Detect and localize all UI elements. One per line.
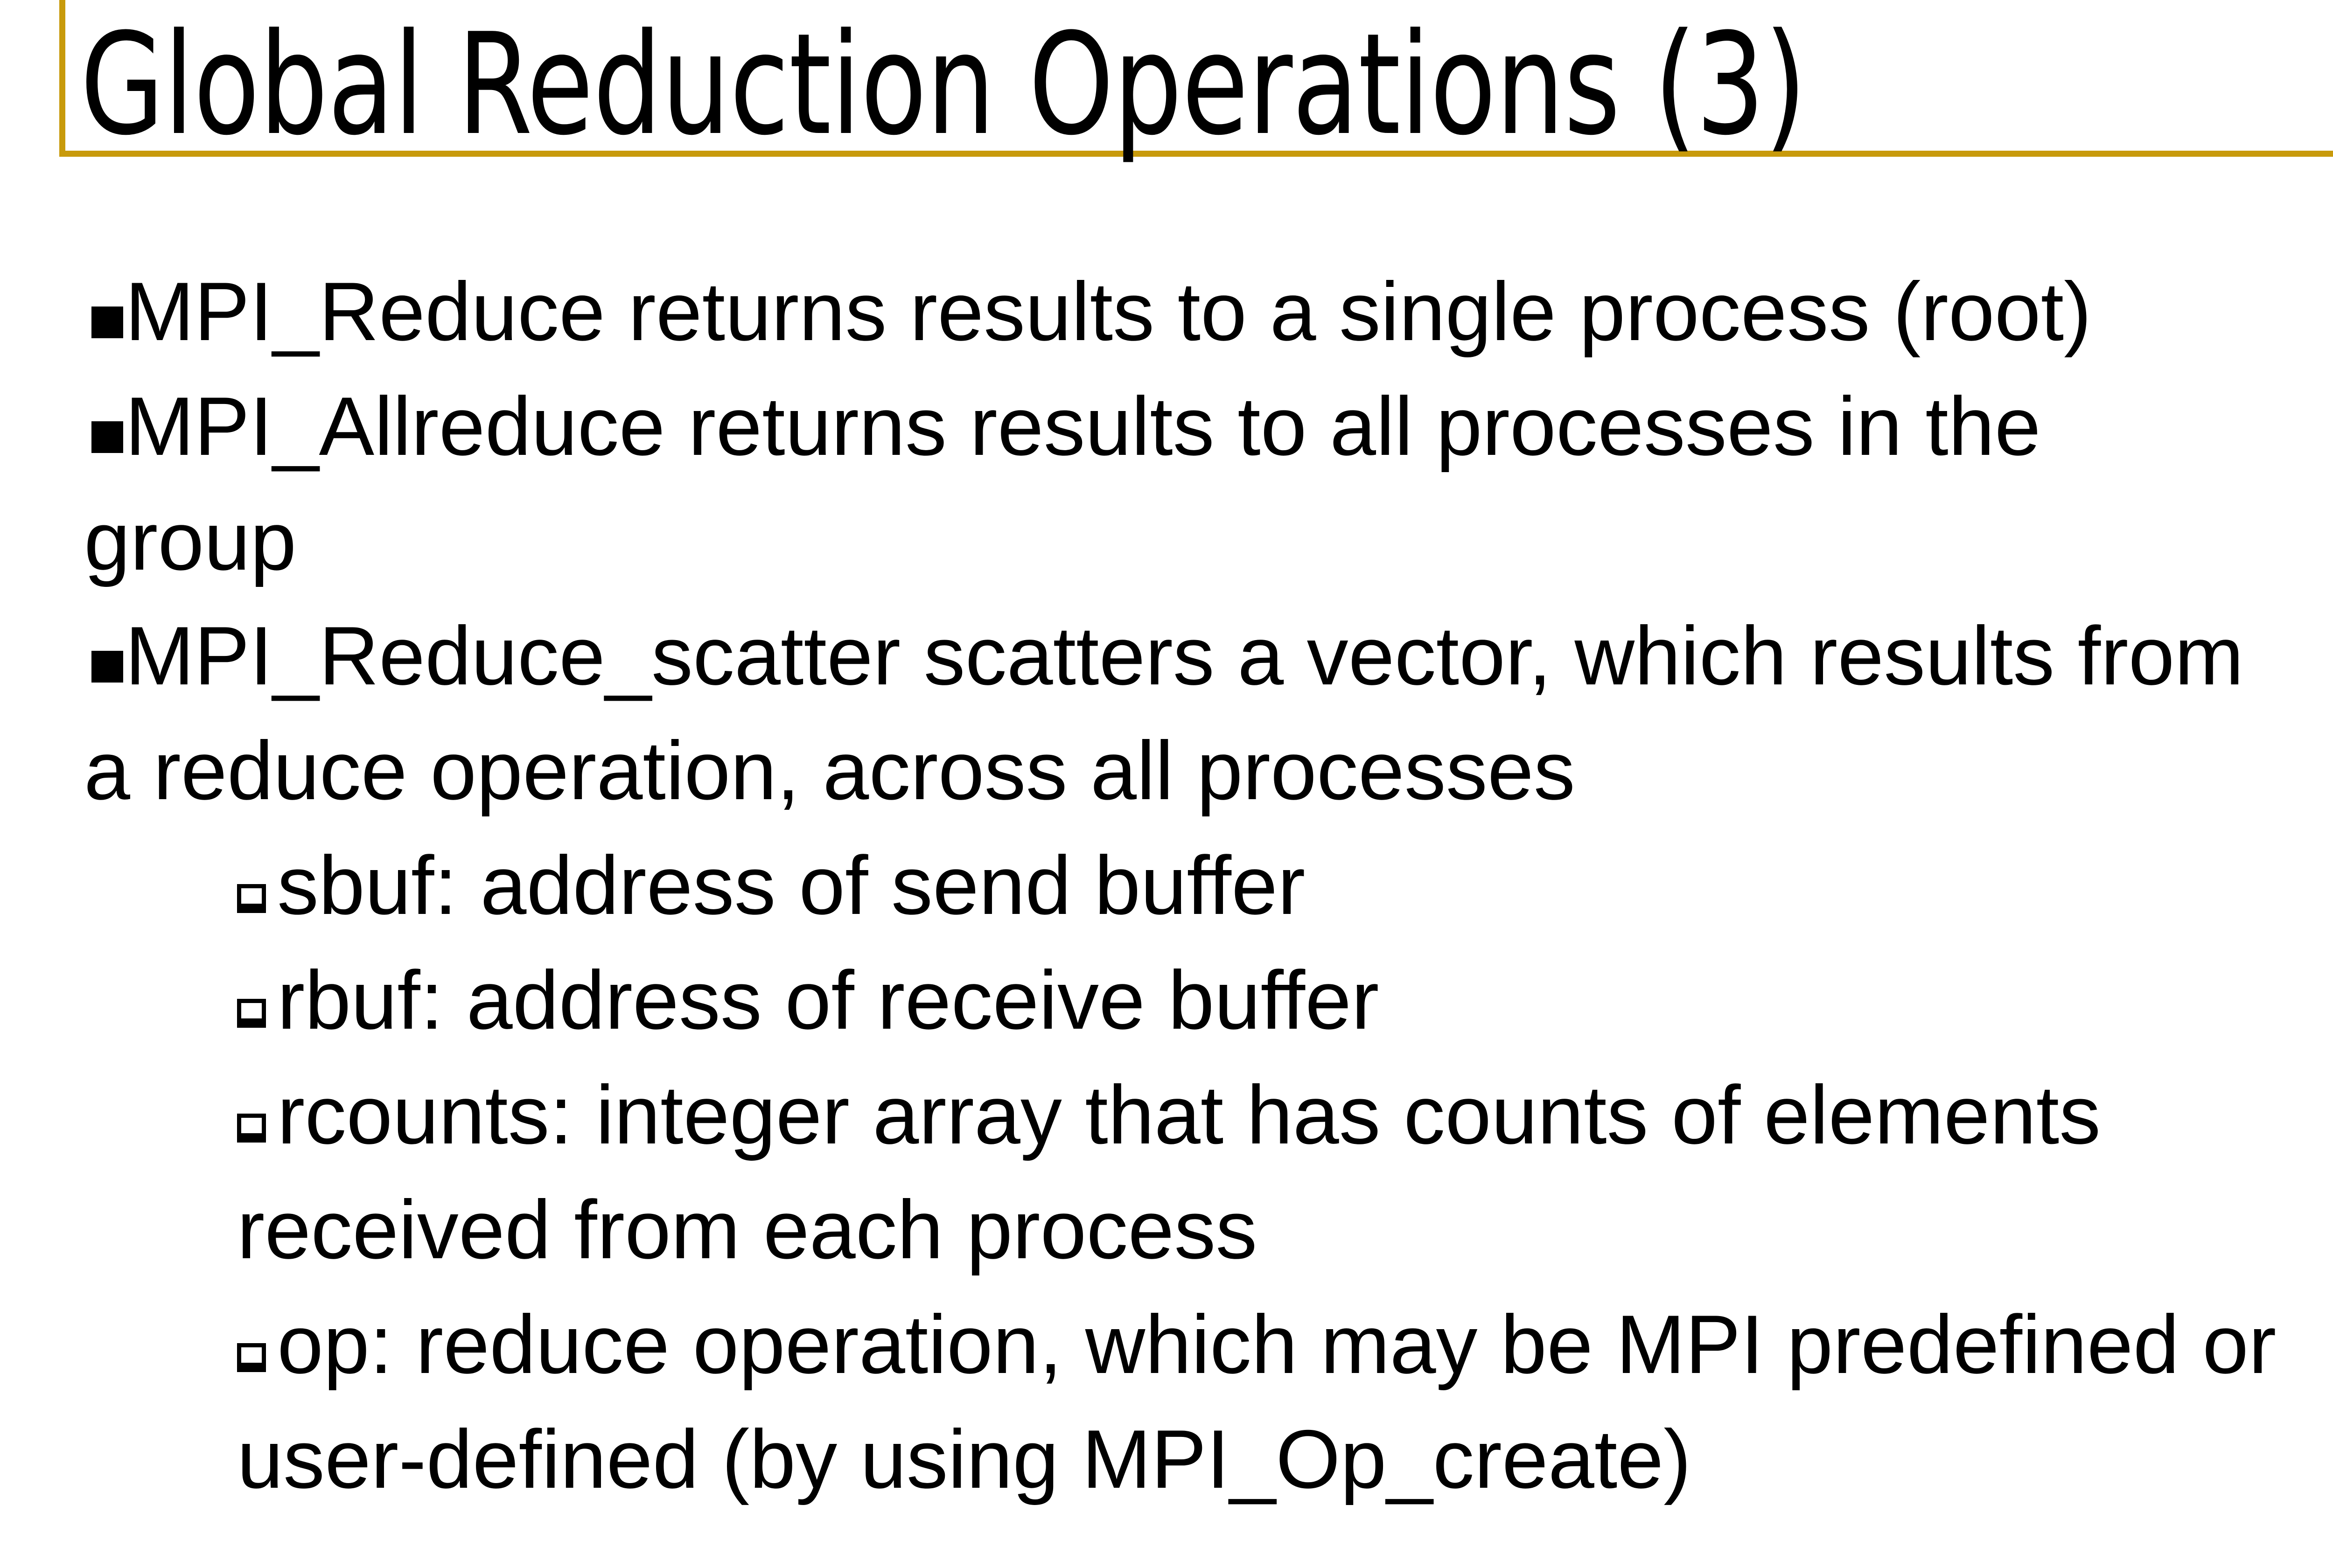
bullet-line: MPI_Reduce returns results to a single p…	[0, 254, 2333, 369]
sub-bullet-line-continuation: user-defined (by using MPI_Op_create)	[0, 1402, 2333, 1517]
bullet-line: MPI_Allreduce returns results to all pro…	[0, 369, 2333, 484]
page-title: Global Reduction Operations (3)	[80, 1, 2207, 169]
bullet-line: MPI_Reduce_scatter scatters a vector, wh…	[0, 599, 2333, 713]
sub-bullet-line-continuation: received from each process	[0, 1172, 2333, 1287]
bullet-line-continuation: a reduce operation, across all processes	[0, 713, 2333, 828]
bullet-text: group	[84, 495, 296, 587]
bullet-text: a reduce operation, across all processes	[84, 724, 1575, 817]
sub-bullet-text: received from each process	[237, 1183, 1257, 1276]
bullet-line-continuation: group	[0, 484, 2333, 599]
slide-body: MPI_Reduce returns results to a single p…	[0, 254, 2333, 1517]
hollow-square-bullet-icon	[237, 1058, 277, 1172]
sub-bullet-text: rcounts: integer array that has counts o…	[277, 1068, 2101, 1161]
sub-bullet-text: sbuf: address of send buffer	[277, 839, 1305, 932]
hollow-square-bullet-icon	[237, 828, 277, 943]
sub-bullet-line: rcounts: integer array that has counts o…	[0, 1058, 2333, 1172]
slide-canvas: Global Reduction Operations (3) MPI_Redu…	[0, 0, 2333, 1568]
sub-bullet-line: op: reduce operation, which may be MPI p…	[0, 1287, 2333, 1402]
filled-square-bullet-icon	[91, 385, 125, 468]
filled-square-bullet-icon	[91, 614, 125, 697]
sub-bullet-text: user-defined (by using MPI_Op_create)	[237, 1413, 1691, 1505]
filled-square-bullet-icon	[91, 270, 125, 353]
sub-bullet-line: rbuf: address of receive buffer	[0, 943, 2333, 1058]
sub-bullet-line: sbuf: address of send buffer	[0, 828, 2333, 943]
bullet-text: MPI_Reduce returns results to a single p…	[125, 265, 2091, 358]
sub-bullet-text: op: reduce operation, which may be MPI p…	[277, 1298, 2276, 1391]
bullet-text: MPI_Allreduce returns results to all pro…	[125, 380, 2041, 473]
hollow-square-bullet-icon	[237, 1287, 277, 1402]
hollow-square-bullet-icon	[237, 943, 277, 1058]
sub-bullet-text: rbuf: address of receive buffer	[277, 954, 1379, 1046]
bullet-text: MPI_Reduce_scatter scatters a vector, wh…	[125, 609, 2244, 702]
